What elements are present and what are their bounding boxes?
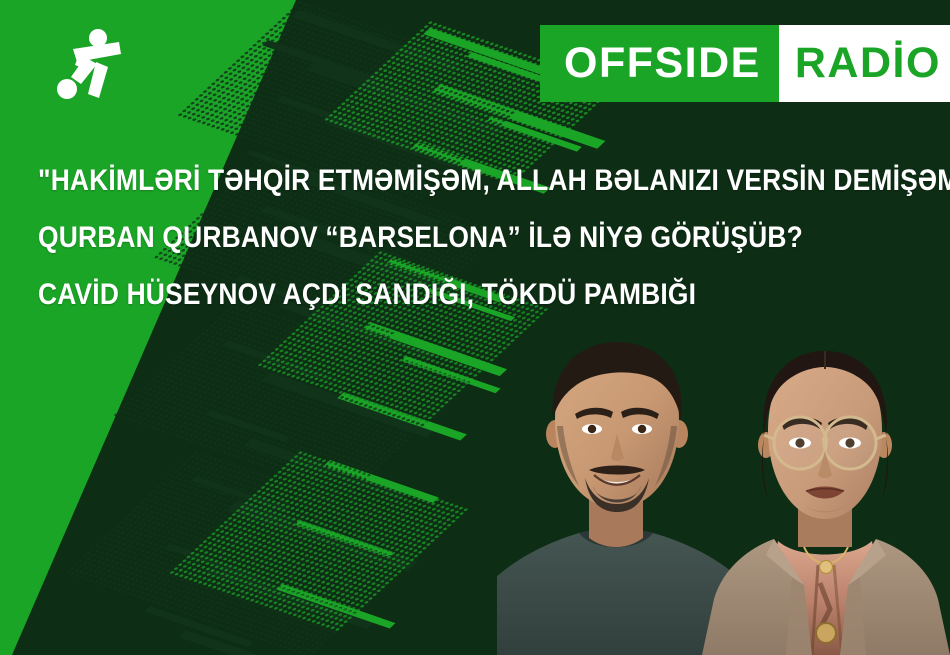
headline-3: CAVİD HÜSEYNOV AÇDI SANDIĞI, TÖKDÜ PAMBI… bbox=[38, 266, 821, 323]
headline-list: "HAKİMLƏRİ TƏHQİR ETMƏMİŞƏM, ALLAH BƏLAN… bbox=[38, 152, 928, 323]
headline-2: QURBAN QURBANOV “BARSELONA” İLƏ NİYƏ GÖR… bbox=[38, 209, 821, 266]
logo-word-offside: OFFSIDE bbox=[540, 25, 779, 102]
logo-word-radio: RADİO bbox=[779, 25, 950, 102]
headline-1: "HAKİMLƏRİ TƏHQİR ETMƏMİŞƏM, ALLAH BƏLAN… bbox=[38, 152, 821, 209]
woman-portrait bbox=[700, 333, 950, 655]
footballer-kicking-icon bbox=[55, 26, 135, 104]
offside-radio-banner: OFFSIDE RADİO "HAKİMLƏRİ TƏHQİR ETMƏMİŞƏ… bbox=[0, 0, 950, 655]
offside-radio-logo[interactable]: OFFSIDE RADİO bbox=[540, 25, 950, 102]
